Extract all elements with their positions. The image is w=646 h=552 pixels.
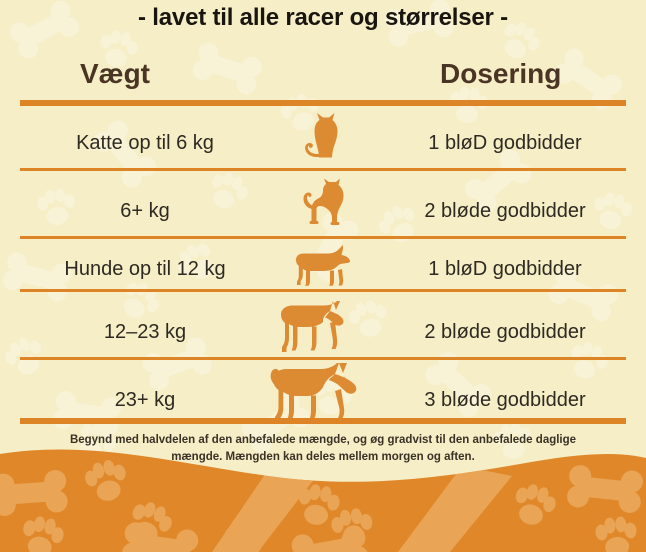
row-dosage-label: 1 bløD godbidder: [380, 132, 630, 155]
footer-divider: [20, 418, 626, 424]
row-weight-label: Hunde op til 12 kg: [20, 258, 270, 281]
dosage-chart-infographic: - lavet til alle racer og størrelser - V…: [0, 0, 646, 552]
table-row: Hunde op til 12 kg 1 bløD godbidder: [0, 240, 646, 290]
row-divider: [20, 289, 626, 292]
row-dosage-label: 3 bløde godbidder: [380, 389, 630, 412]
column-header-dosage: Dosering: [440, 58, 561, 90]
table-row: 23+ kg 3 bløde godbidder: [0, 361, 646, 418]
row-dosage-label: 1 bløD godbidder: [380, 258, 630, 281]
dog-large-icon: [265, 361, 385, 421]
page-title: - lavet til alle racer og størrelser -: [0, 4, 646, 32]
dog-medium-icon: [265, 298, 385, 356]
footnote-line-1: Begynd med halvdelen af den anbefalede m…: [70, 434, 533, 446]
row-dosage-label: 2 bløde godbidder: [380, 321, 630, 344]
table-row: 12–23 kg 2 bløde godbidder: [0, 293, 646, 358]
row-weight-label: 12–23 kg: [20, 321, 270, 344]
table-row: Katte op til 6 kg 1 bløD godbidder: [0, 106, 646, 169]
dog-small-icon: [265, 245, 385, 287]
table-row: 6+ kg 2 bløde godbidder: [0, 172, 646, 236]
row-weight-label: Katte op til 6 kg: [20, 132, 270, 155]
row-divider: [20, 168, 626, 171]
row-dosage-label: 2 bløde godbidder: [380, 200, 630, 223]
column-headers: Vægt Dosering: [0, 58, 646, 98]
row-weight-label: 23+ kg: [20, 389, 270, 412]
row-divider: [20, 236, 626, 239]
cat-sitting-icon: [265, 178, 385, 232]
cat-back-icon: [265, 112, 385, 166]
column-header-weight: Vægt: [80, 58, 150, 90]
footnote: Begynd med halvdelen af den anbefalede m…: [60, 432, 586, 465]
row-divider: [20, 357, 626, 360]
row-weight-label: 6+ kg: [20, 200, 270, 223]
